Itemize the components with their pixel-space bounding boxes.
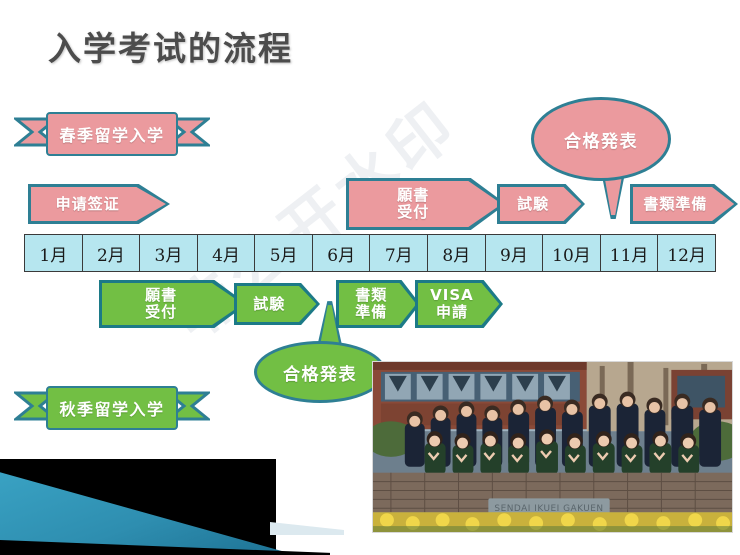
timeline-month-cell[interactable]: 7月: [370, 235, 428, 271]
autumn-result-announcement-bubble[interactable]: 合格発表: [254, 341, 386, 403]
spring-step-application-reception[interactable]: 願書 受付: [346, 178, 506, 230]
timeline-month-cell[interactable]: 11月: [601, 235, 659, 271]
timeline-month-cell[interactable]: 12月: [658, 235, 715, 271]
line-1: 願書: [397, 186, 429, 204]
spring-step-visa-application-label: 申请签证: [56, 196, 143, 213]
autumn-step-application-reception-label: 願書 受付: [145, 287, 201, 321]
line-2: 準備: [355, 303, 387, 321]
month-timeline: 1月 2月 3月 4月 5月 6月 7月 8月 9月 10月 11月 12月: [24, 234, 716, 272]
spring-step-document-prep[interactable]: 書類準備: [630, 184, 738, 224]
autumn-step-visa-application-label: VISA 申請: [430, 287, 488, 321]
timeline-month-cell[interactable]: 5月: [255, 235, 313, 271]
timeline-month-cell[interactable]: 6月: [313, 235, 371, 271]
spring-entry-ribbon-label: 春季留学入学: [46, 112, 178, 156]
line-1: VISA: [430, 286, 474, 304]
autumn-step-document-prep-label: 書類 準備: [355, 287, 400, 321]
timeline-month-cell[interactable]: 1月: [25, 235, 83, 271]
line-1: 書類: [355, 286, 387, 304]
page-title: 入学考试的流程: [48, 22, 293, 70]
spring-step-application-reception-label: 願書 受付: [397, 187, 455, 221]
timeline-month-cell[interactable]: 9月: [486, 235, 544, 271]
timeline-month-cell[interactable]: 2月: [83, 235, 141, 271]
line-2: 受付: [145, 303, 177, 321]
timeline-month-cell[interactable]: 8月: [428, 235, 486, 271]
line-2: 申請: [436, 303, 468, 321]
spring-step-document-prep-label: 書類準備: [643, 196, 724, 213]
autumn-result-announcement-label: 合格発表: [254, 341, 386, 403]
autumn-step-application-reception[interactable]: 願書 受付: [99, 280, 247, 328]
school-group-photo: SENDAI IKUEI GAKUEN: [372, 361, 733, 533]
autumn-step-document-prep[interactable]: 書類 準備: [336, 280, 420, 328]
autumn-step-exam[interactable]: 試験: [234, 283, 320, 325]
spring-step-exam[interactable]: 試験: [497, 184, 585, 224]
timeline-month-cell[interactable]: 4月: [198, 235, 256, 271]
timeline-month-cell[interactable]: 3月: [140, 235, 198, 271]
photo-illustration: SENDAI IKUEI GAKUEN: [373, 362, 732, 532]
slide-canvas: 入学考试的流程 非公开水印 春季留学入学 申请签证 願書 受付 試験: [0, 0, 740, 555]
spring-entry-ribbon: 春季留学入学: [14, 112, 210, 156]
autumn-step-exam-label: 試験: [253, 296, 300, 313]
spring-step-exam-label: 試験: [517, 196, 565, 213]
line-2: 受付: [397, 203, 429, 221]
autumn-entry-ribbon: 秋季留学入学: [14, 386, 210, 430]
decoration-light-strip: [270, 522, 344, 535]
timeline-month-cell[interactable]: 10月: [543, 235, 601, 271]
spring-result-announcement-label: 合格発表: [531, 97, 671, 181]
line-1: 願書: [145, 286, 177, 304]
autumn-entry-ribbon-label: 秋季留学入学: [46, 386, 178, 430]
spring-result-announcement-bubble[interactable]: 合格発表: [531, 97, 671, 181]
spring-step-visa-application[interactable]: 申请签证: [28, 184, 170, 224]
autumn-step-visa-application[interactable]: VISA 申請: [415, 280, 503, 328]
